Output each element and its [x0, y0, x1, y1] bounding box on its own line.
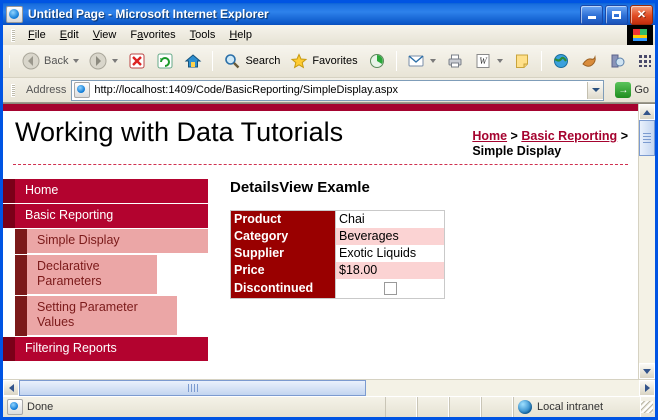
- globe-icon: [552, 52, 570, 70]
- scroll-up-button[interactable]: [639, 104, 655, 120]
- sidebar-item-label: Filtering Reports: [15, 337, 208, 361]
- favorites-label: Favorites: [312, 55, 357, 67]
- security-zone[interactable]: Local intranet: [513, 397, 641, 417]
- status-message: Done: [27, 401, 53, 413]
- vertical-scroll-track[interactable]: [639, 156, 655, 363]
- breadcrumb-separator-1: >: [511, 129, 518, 143]
- home-icon: [184, 52, 202, 70]
- field-label: Product: [231, 211, 336, 229]
- nav-stripe: [3, 179, 15, 203]
- window-controls: ✕: [580, 5, 653, 25]
- star-icon: [290, 52, 308, 70]
- sidebar-item-label: Setting Parameter Values: [27, 296, 177, 336]
- back-dropdown-icon[interactable]: [73, 59, 79, 63]
- sidebar-item-basic-reporting[interactable]: Basic Reporting: [3, 204, 208, 228]
- back-arrow-icon: [22, 52, 40, 70]
- address-dropdown-button[interactable]: [587, 82, 603, 99]
- address-input[interactable]: http://localhost:1409/Code/BasicReportin…: [71, 80, 604, 101]
- nav-stripe: [15, 255, 27, 295]
- field-value: Chai: [336, 211, 445, 229]
- field-label: Category: [231, 228, 336, 245]
- web-page: Working with Data Tutorials Home > Basic…: [3, 104, 638, 379]
- note-icon: [513, 52, 531, 70]
- stop-button[interactable]: [124, 47, 150, 75]
- mail-dropdown-icon[interactable]: [430, 59, 436, 63]
- windows-logo-icon: [627, 25, 653, 45]
- sidebar-item-setting-parameter-values[interactable]: Setting Parameter Values: [3, 296, 208, 336]
- breadcrumb-link-basic-reporting[interactable]: Basic Reporting: [521, 129, 617, 143]
- page-body: Home Basic Reporting Simple Display: [3, 165, 638, 362]
- field-label: Discontinued: [231, 279, 336, 299]
- status-page-icon: [7, 399, 23, 415]
- go-button[interactable]: → Go: [609, 82, 655, 98]
- nav-stripe: [3, 337, 15, 361]
- page-viewport: Working with Data Tutorials Home > Basic…: [3, 103, 655, 379]
- resize-grip[interactable]: [641, 401, 653, 413]
- print-button[interactable]: [442, 47, 468, 75]
- breadcrumb-link-home[interactable]: Home: [472, 129, 507, 143]
- field-value: $18.00: [336, 262, 445, 279]
- table-row: Discontinued: [231, 279, 445, 299]
- stop-icon: [128, 52, 146, 70]
- menu-item-tools[interactable]: Tools: [183, 27, 223, 43]
- close-button[interactable]: ✕: [630, 5, 653, 25]
- media-button[interactable]: [364, 47, 390, 75]
- sidebar-item-label: Declarative Parameters: [27, 255, 157, 295]
- status-cell-1: [385, 397, 417, 417]
- research-button[interactable]: [604, 47, 630, 75]
- address-bar: Address http://localhost:1409/Code/Basic…: [3, 78, 655, 103]
- status-cell-4: [481, 397, 513, 417]
- research-icon: [608, 52, 626, 70]
- vertical-scrollbar[interactable]: [638, 104, 655, 379]
- vertical-scroll-thumb[interactable]: [639, 120, 655, 156]
- title-bar: Untitled Page - Microsoft Internet Explo…: [3, 3, 655, 25]
- word-icon: W: [474, 52, 492, 70]
- toolbar-grip[interactable]: [9, 55, 10, 68]
- menu-item-view[interactable]: View: [86, 27, 124, 43]
- sidebar-item-declarative-parameters[interactable]: Declarative Parameters: [3, 255, 208, 295]
- fox-icon: [580, 52, 598, 70]
- back-button[interactable]: Back: [18, 47, 83, 75]
- sidebar-item-simple-display[interactable]: Simple Display: [3, 229, 208, 254]
- nav-stripe: [15, 296, 27, 336]
- sidebar-item-label: Home: [15, 179, 208, 203]
- favorites-button[interactable]: Favorites: [286, 47, 361, 75]
- menu-item-favorites[interactable]: Favorites: [123, 27, 182, 43]
- breadcrumb-separator-2: >: [621, 129, 628, 143]
- horizontal-scroll-thumb[interactable]: [19, 380, 366, 396]
- discontinued-checkbox[interactable]: [384, 282, 397, 295]
- breadcrumb: Home > Basic Reporting > Simple Display: [472, 117, 628, 159]
- security-zone-label: Local intranet: [537, 401, 603, 413]
- menu-bar: File Edit View Favorites Tools Help: [3, 25, 655, 45]
- window-title: Untitled Page - Microsoft Internet Explo…: [28, 7, 269, 21]
- table-row: Supplier Exotic Liquids: [231, 245, 445, 262]
- back-label: Back: [44, 55, 68, 67]
- field-value: Beverages: [336, 228, 445, 245]
- status-message-area: Done: [3, 399, 385, 415]
- sidebar-item-filtering-reports[interactable]: Filtering Reports: [3, 337, 208, 361]
- browser-window: Untitled Page - Microsoft Internet Explo…: [0, 0, 658, 420]
- scroll-left-button[interactable]: [3, 380, 19, 396]
- refresh-icon: [156, 52, 174, 70]
- notes-button[interactable]: [509, 47, 535, 75]
- address-grip[interactable]: [11, 84, 15, 97]
- field-label: Price: [231, 262, 336, 279]
- field-value: Exotic Liquids: [336, 245, 445, 262]
- forward-dropdown-icon[interactable]: [112, 59, 118, 63]
- address-url: http://localhost:1409/Code/BasicReportin…: [94, 84, 398, 96]
- refresh-button[interactable]: [152, 47, 178, 75]
- address-label: Address: [26, 84, 66, 96]
- forward-arrow-icon: [89, 52, 107, 70]
- home-button[interactable]: [180, 47, 206, 75]
- nav-stripe: [3, 204, 15, 228]
- sidebar-item-label: Simple Display: [27, 229, 208, 254]
- details-view-heading: DetailsView Examle: [230, 179, 638, 196]
- go-label: Go: [634, 84, 649, 96]
- edit-word-button[interactable]: W: [470, 47, 507, 75]
- menu-item-file[interactable]: File: [21, 27, 53, 43]
- nav-stripe: [15, 229, 27, 254]
- horizontal-scroll-track[interactable]: [366, 380, 639, 396]
- field-label: Supplier: [231, 245, 336, 262]
- horizontal-scrollbar[interactable]: [3, 379, 655, 396]
- forward-button[interactable]: [85, 47, 122, 75]
- status-bar: Done Local intranet: [3, 396, 655, 417]
- sidebar-item-home[interactable]: Home: [3, 179, 208, 203]
- media-icon: [368, 52, 386, 70]
- maximize-button[interactable]: [605, 5, 628, 25]
- scroll-down-button[interactable]: [639, 363, 655, 379]
- globe-icon: [518, 400, 532, 414]
- table-row: Category Beverages: [231, 228, 445, 245]
- page-icon: [74, 82, 90, 98]
- globe-button[interactable]: [548, 47, 574, 75]
- go-arrow-icon: →: [615, 82, 631, 98]
- page-header: Working with Data Tutorials Home > Basic…: [3, 111, 638, 161]
- page-top-bar: [3, 104, 638, 111]
- messenger-button[interactable]: [576, 47, 602, 75]
- printer-icon: [446, 52, 464, 70]
- menu-grip[interactable]: [11, 29, 15, 42]
- field-value-checkbox: [336, 279, 445, 299]
- table-row: Price $18.00: [231, 262, 445, 279]
- menu-item-edit[interactable]: Edit: [53, 27, 86, 43]
- minimize-button[interactable]: [580, 5, 603, 25]
- sidebar-item-label: Basic Reporting: [15, 204, 208, 228]
- search-icon: [223, 52, 241, 70]
- browser-chrome: File Edit View Favorites Tools Help Back: [3, 25, 655, 417]
- status-cell-2: [417, 397, 449, 417]
- sidebar-nav: Home Basic Reporting Simple Display: [3, 179, 208, 362]
- details-view-table: Product Chai Category Beverages Supplier…: [230, 210, 445, 299]
- scroll-right-button[interactable]: [639, 380, 655, 396]
- search-label: Search: [245, 55, 280, 67]
- status-cell-3: [449, 397, 481, 417]
- encode-button[interactable]: [632, 47, 658, 75]
- table-row: Product Chai: [231, 211, 445, 229]
- toolbar: Back: [3, 45, 655, 78]
- page-title: Working with Data Tutorials: [15, 117, 343, 148]
- menu-item-help[interactable]: Help: [222, 27, 259, 43]
- search-button[interactable]: Search: [219, 47, 284, 75]
- qr-icon: [636, 52, 654, 70]
- word-dropdown-icon[interactable]: [497, 59, 503, 63]
- breadcrumb-current: Simple Display: [472, 144, 628, 159]
- ie-document-icon: [6, 6, 23, 23]
- mail-icon: [407, 52, 425, 70]
- main-content: DetailsView Examle Product Chai Category…: [208, 179, 638, 362]
- mail-button[interactable]: [403, 47, 440, 75]
